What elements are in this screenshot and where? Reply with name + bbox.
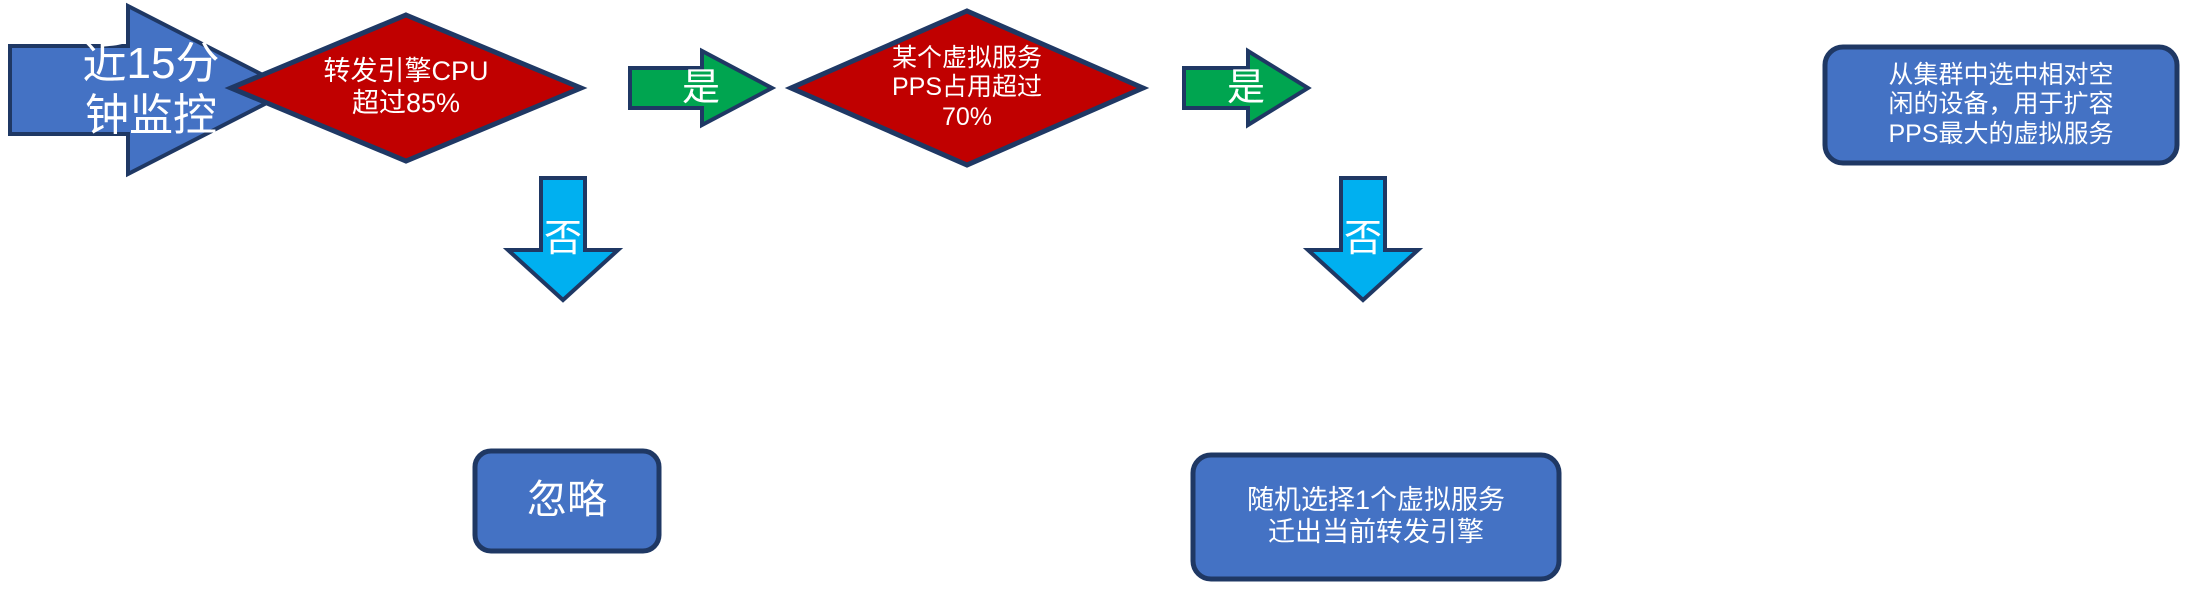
right-arrow-icon (628, 49, 774, 127)
diamond-icon (228, 12, 584, 164)
down-arrow-icon (1304, 176, 1422, 302)
yes-arrow-2-node[interactable]: 是 (1182, 49, 1310, 127)
action-scale-out-node[interactable]: 从集群中选中相对空 闲的设备，用于扩容 PPS最大的虚拟服务 (1822, 44, 2180, 166)
yes-arrow-1-node[interactable]: 是 (628, 49, 774, 127)
decision-pps-node[interactable]: 某个虚拟服务 PPS占用超过 70% (788, 8, 1146, 168)
no-arrow-1-node[interactable]: 否 (504, 176, 622, 302)
rounded-rect-icon (472, 448, 662, 554)
rounded-rect-icon (1822, 44, 2180, 166)
decision-cpu-node[interactable]: 转发引擎CPU 超过85% (228, 12, 584, 164)
right-arrow-icon (1182, 49, 1310, 127)
no-arrow-2-node[interactable]: 否 (1304, 176, 1422, 302)
rounded-rect-icon (1190, 452, 1562, 582)
action-ignore-node[interactable]: 忽略 (472, 448, 662, 554)
flowchart-canvas: 近15分 钟监控 转发引擎CPU 超过85% 是 某个虚拟服务 PPS占用超过 … (0, 0, 2195, 601)
action-migrate-node[interactable]: 随机选择1个虚拟服务 迁出当前转发引擎 (1190, 452, 1562, 582)
down-arrow-icon (504, 176, 622, 302)
diamond-icon (788, 8, 1146, 168)
